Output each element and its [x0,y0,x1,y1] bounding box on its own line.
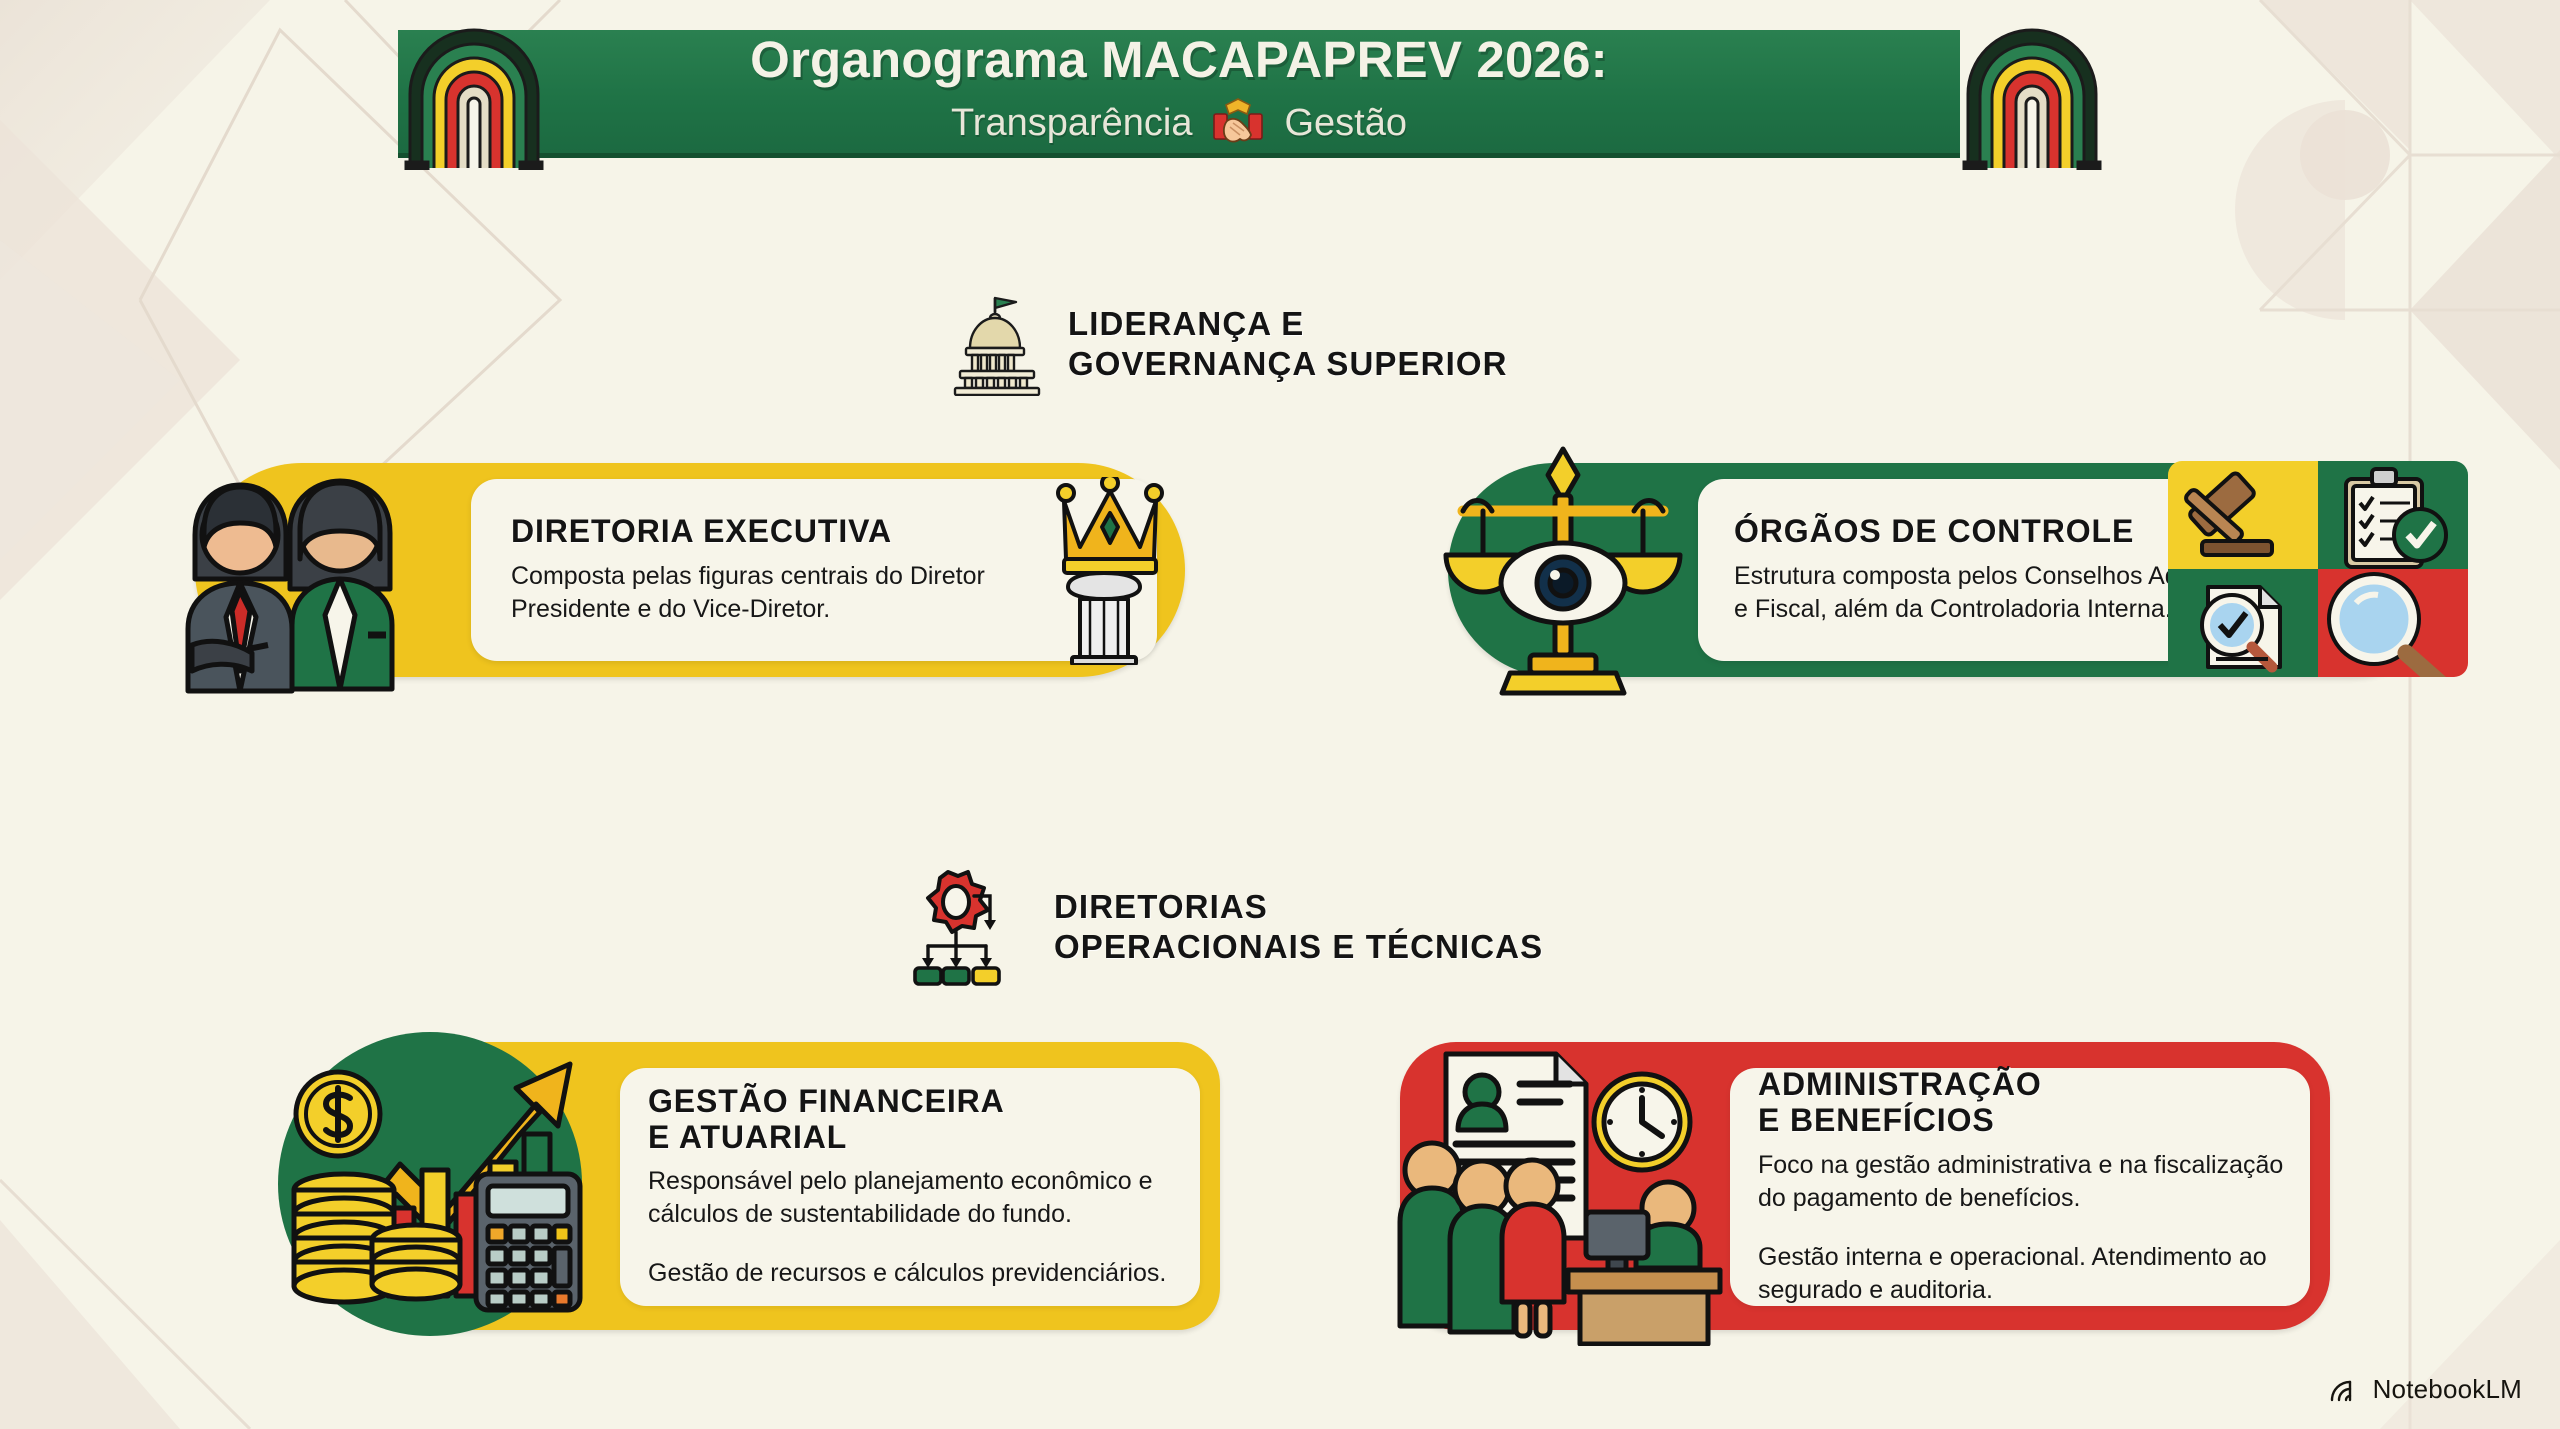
card-title: ADMINISTRAÇÃO E BENEFÍCIOS [1758,1067,2288,1139]
card-title-line2: E BENEFÍCIOS [1758,1103,2288,1139]
card-gestao-financeira[interactable]: GESTÃO FINANCEIRA E ATUARIAL Responsável… [290,1030,1220,1340]
arch-gateway-icon [400,22,548,170]
card-body-text-secondary: Gestão interna e operacional. Atendiment… [1758,1241,2288,1307]
header-banner: Organograma MACAPAPREV 2026: Transparênc… [398,30,1960,158]
card-body-text: Foco na gestão administrativa e na fisca… [1758,1149,2288,1215]
watermark-label: NotebookLM [2373,1374,2522,1405]
section-heading-line1: LIDERANÇA E [1068,304,1508,344]
handshake-icon [1206,97,1270,149]
finance-growth-icon [270,1022,610,1342]
card-title: GESTÃO FINANCEIRA E ATUARIAL [648,1084,1178,1156]
section-heading-line2: GOVERNANÇA SUPERIOR [1068,344,1508,384]
scales-eye-icon [1428,435,1698,707]
card-title-line1: GESTÃO FINANCEIRA [648,1084,1178,1120]
section-heading-governance: LIDERANÇA E GOVERNANÇA SUPERIOR [950,292,1508,396]
section-heading-text: LIDERANÇA E GOVERNANÇA SUPERIOR [1068,304,1508,385]
header-subtitle-management: Gestão [1284,102,1407,145]
arch-gateway-icon [1958,22,2106,170]
section-heading-text: DIRETORIAS OPERACIONAIS E TÉCNICAS [1054,887,1543,968]
header-subtitle-row: Transparência Gestão [951,97,1407,149]
org-chart-gear-icon [912,868,1032,986]
notebooklm-icon [2329,1377,2363,1403]
section-heading-line1: DIRETORIAS [1054,887,1543,927]
card-panel: ADMINISTRAÇÃO E BENEFÍCIOS Foco na gestã… [1730,1068,2310,1306]
card-panel: GESTÃO FINANCEIRA E ATUARIAL Responsável… [620,1068,1200,1306]
card-title: DIRETORIA EXECUTIVA [511,514,1045,550]
crown-column-icon [1050,477,1170,665]
capitol-building-icon [950,292,1046,396]
public-service-desk-icon [1390,1026,1740,1346]
card-title-line2: E ATUARIAL [648,1120,1178,1156]
notebooklm-watermark: NotebookLM [2329,1374,2522,1405]
card-body-text-secondary: Gestão de recursos e cálculos previdenci… [648,1257,1178,1290]
card-body-text: Responsável pelo planejamento econômico … [648,1165,1178,1231]
section-heading-operations: DIRETORIAS OPERACIONAIS E TÉCNICAS [912,868,1543,986]
card-title-line1: ADMINISTRAÇÃO [1758,1067,2288,1103]
card-administracao-beneficios[interactable]: ADMINISTRAÇÃO E BENEFÍCIOS Foco na gestã… [1400,1030,2330,1340]
card-diretoria-executiva[interactable]: DIRETORIA EXECUTIVA Composta pelas figur… [195,455,1205,687]
card-body-text: Composta pelas figuras centrais do Diret… [511,560,1045,626]
infographic-canvas: Organograma MACAPAPREV 2026: Transparênc… [0,0,2560,1429]
audit-quadrant-icon [2168,461,2468,677]
executives-pair-icon [140,439,430,701]
page-title: Organograma MACAPAPREV 2026: [750,34,1608,85]
section-heading-line2: OPERACIONAIS E TÉCNICAS [1054,927,1543,967]
header-subtitle-transparency: Transparência [951,102,1193,145]
card-orgaos-controle[interactable]: ÓRGÃOS DE CONTROLE Estrutura composta pe… [1448,455,2478,687]
